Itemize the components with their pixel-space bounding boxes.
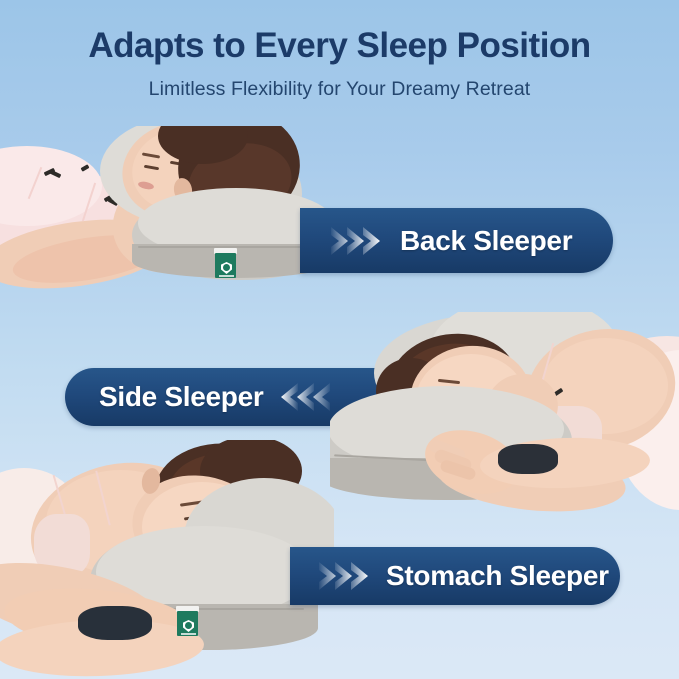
banner-label-stomach-sleeper: Stomach Sleeper <box>386 560 609 592</box>
chevron-right-icon <box>350 561 370 591</box>
banner-stomach-sleeper[interactable]: Stomach Sleeper <box>290 547 620 605</box>
banner-label-side-sleeper: Side Sleeper <box>99 381 263 413</box>
banner-label-back-sleeper: Back Sleeper <box>400 225 572 257</box>
product-brand-tag <box>214 248 237 278</box>
chevron-right-icon <box>362 226 382 256</box>
chevron-left-icon <box>311 382 331 412</box>
stomach-sleeper-photo <box>0 440 334 679</box>
tag-body <box>215 253 236 278</box>
tag-body <box>177 611 198 636</box>
chevron-group-right <box>330 226 378 256</box>
page-title: Adapts to Every Sleep Position <box>0 26 679 66</box>
page-subtitle: Limitless Flexibility for Your Dreamy Re… <box>0 78 679 101</box>
side-sleeper-photo <box>330 312 679 512</box>
back-sleeper-photo <box>0 126 342 311</box>
banner-back-sleeper[interactable]: Back Sleeper <box>300 208 613 273</box>
shield-icon <box>183 620 194 632</box>
product-brand-tag <box>176 606 199 636</box>
shield-icon <box>221 262 232 274</box>
header-block: Adapts to Every Sleep Position Limitless… <box>0 0 679 101</box>
chevron-group-right <box>318 561 366 591</box>
marketing-image: Adapts to Every Sleep Position Limitless… <box>0 0 679 679</box>
chevron-group-left <box>283 382 331 412</box>
